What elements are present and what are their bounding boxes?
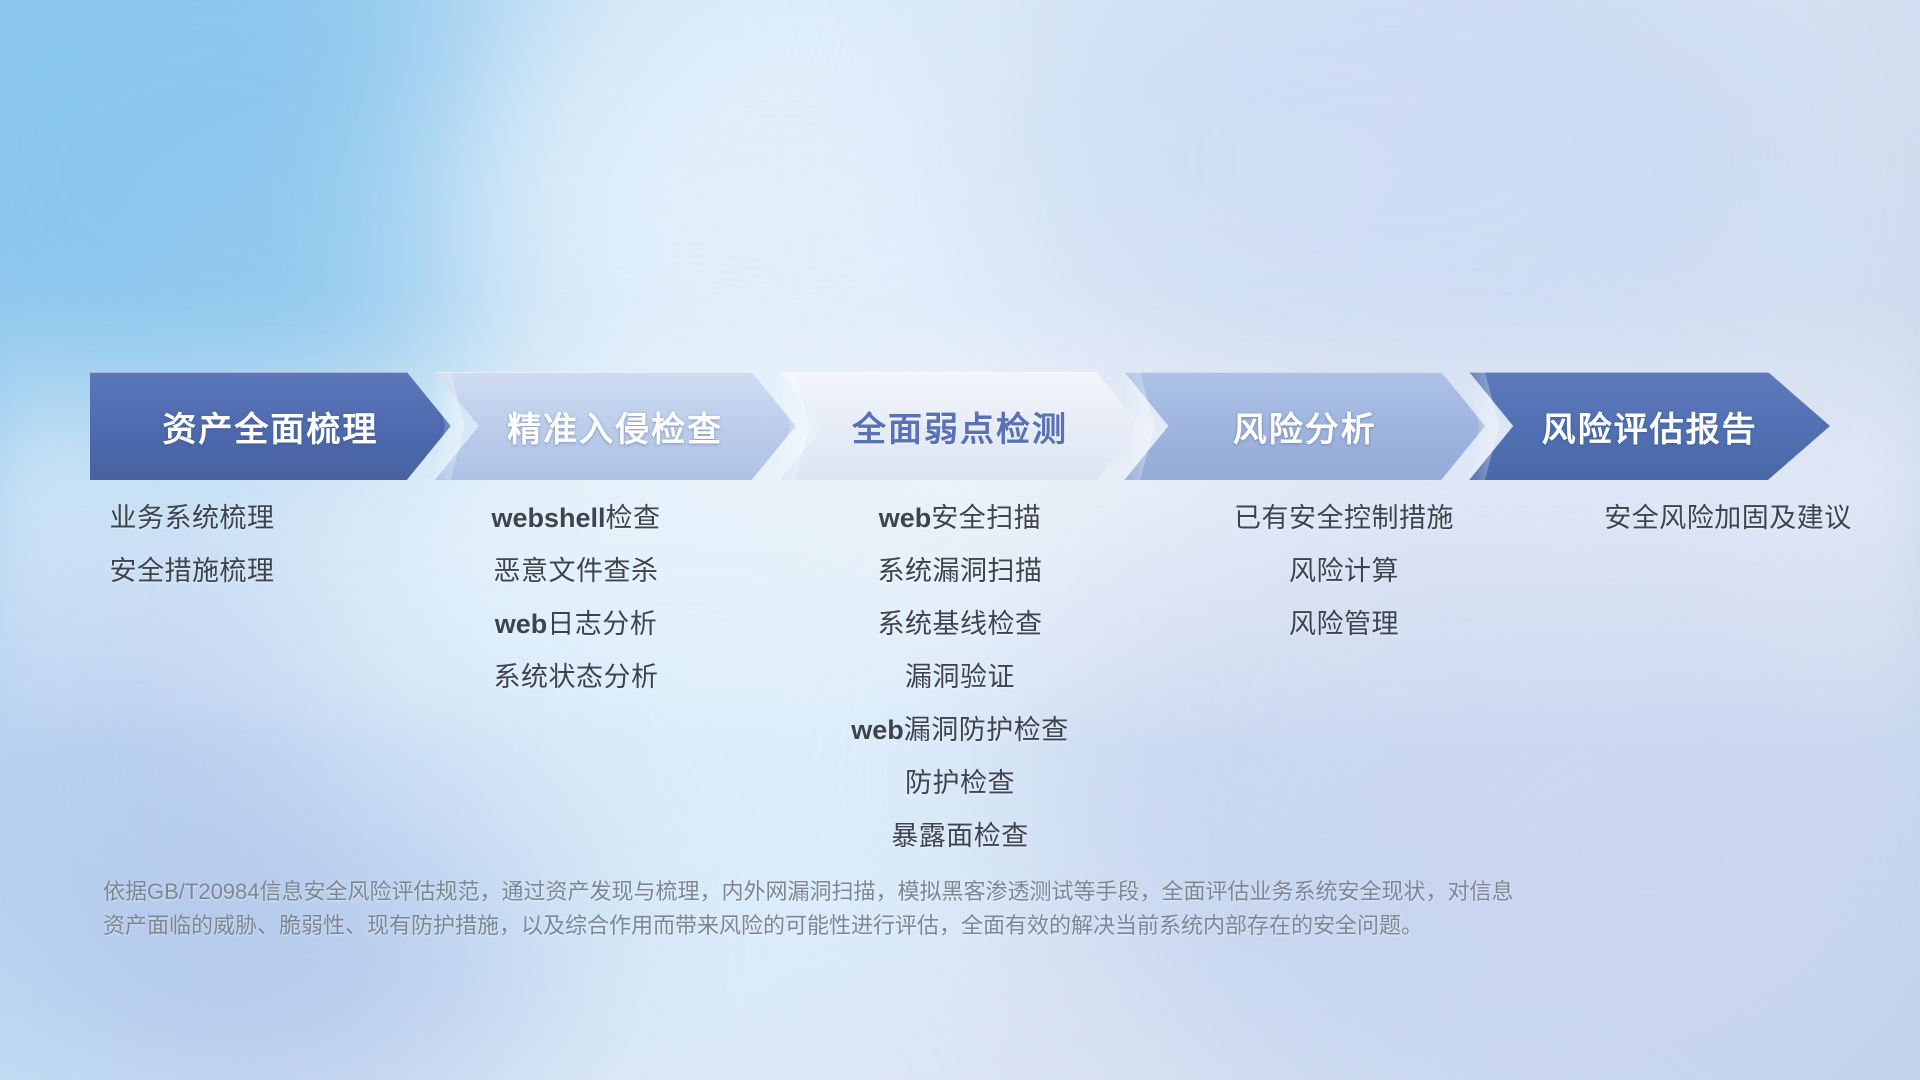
stage-chevron-asset-inventory[interactable]: 资产全面梳理: [90, 372, 451, 480]
footer-description: 依据GB/T20984信息安全风险评估规范，通过资产发现与梳理，内外网漏洞扫描，…: [103, 875, 1743, 943]
bottom-label-latin: webshell: [491, 503, 605, 533]
stage-title: 风险评估报告: [1542, 402, 1758, 451]
bottom-label-cjk: 风险管理: [1289, 609, 1399, 639]
stage-title: 全面弱点检测: [852, 402, 1068, 451]
bottom-label-cjk: 安全风险加固及建议: [1604, 503, 1852, 533]
stage-title: 风险分析: [1233, 402, 1377, 451]
bottom-label: 安全风险加固及建议: [1604, 505, 1852, 532]
bottom-label-cjk: 系统状态分析: [494, 662, 659, 692]
bottom-label-group: web安全扫描系统漏洞扫描系统基线检查漏洞验证web漏洞防护检查防护检查暴露面检…: [768, 505, 1152, 850]
bottom-label: 系统漏洞扫描: [878, 558, 1043, 585]
bottom-label: 风险管理: [1289, 611, 1399, 638]
bottom-label-cjk: 检查: [606, 503, 661, 533]
process-diagram: 理清有效资产识别评估方向异常状态检查缺陷路径发现业务安全脆弱性评估边界安全脆弱性…: [0, 0, 1920, 1080]
stage-title: 资产全面梳理: [162, 402, 378, 451]
bottom-label: web安全扫描: [879, 505, 1042, 532]
bottom-label-latin: web: [879, 503, 932, 533]
bottom-label: 安全措施梳理: [110, 558, 275, 585]
bottom-label-cjk: 安全扫描: [931, 503, 1041, 533]
bottom-label-group: 安全风险加固及建议: [1536, 505, 1920, 532]
bottom-label: 恶意文件查杀: [494, 558, 659, 585]
bottom-label-cjk: 风险计算: [1289, 556, 1399, 586]
bottom-label: 暴露面检查: [891, 823, 1029, 850]
stage-chevron-band: 资产全面梳理精准入侵检查全面弱点检测风险分析风险评估报告: [90, 372, 1830, 480]
bottom-label-group: 业务系统梳理安全措施梳理: [0, 505, 384, 585]
bottom-label-cjk: 日志分析: [547, 609, 657, 639]
bottom-label: 系统基线检查: [878, 611, 1043, 638]
bottom-label-cjk: 防护检查: [905, 768, 1015, 798]
bottom-label: 漏洞验证: [905, 664, 1015, 691]
bottom-label: 系统状态分析: [494, 664, 659, 691]
bottom-label: webshell检查: [491, 505, 660, 532]
footer-line-2: 资产面临的威胁、脆弱性、现有防护措施，以及综合作用而带来风险的可能性进行评估，全…: [103, 909, 1743, 943]
bottom-label-cjk: 系统基线检查: [878, 609, 1043, 639]
bottom-label-latin: web: [495, 609, 548, 639]
bottom-label-latin: web: [851, 715, 904, 745]
bottom-label-cjk: 已有安全控制措施: [1234, 503, 1454, 533]
bottom-label-group: webshell检查恶意文件查杀web日志分析系统状态分析: [384, 505, 768, 691]
bottom-label: web漏洞防护检查: [851, 717, 1069, 744]
bottom-label-cjk: 暴露面检查: [891, 821, 1029, 851]
bottom-label: 业务系统梳理: [110, 505, 275, 532]
bottom-column-asset-inventory: 业务系统梳理安全措施梳理: [0, 505, 384, 1080]
bottom-label: 风险计算: [1289, 558, 1399, 585]
bottom-label: 防护检查: [905, 770, 1015, 797]
bottom-label-cjk: 业务系统梳理: [110, 503, 275, 533]
bottom-label-cjk: 系统漏洞扫描: [878, 556, 1043, 586]
footer-line-1: 依据GB/T20984信息安全风险评估规范，通过资产发现与梳理，内外网漏洞扫描，…: [103, 875, 1743, 909]
stage-chevron-weakness-detection[interactable]: 全面弱点检测: [780, 372, 1141, 480]
bottom-label-group: 已有安全控制措施风险计算风险管理: [1152, 505, 1536, 638]
bottom-column-weakness-detection: web安全扫描系统漏洞扫描系统基线检查漏洞验证web漏洞防护检查防护检查暴露面检…: [768, 505, 1152, 1080]
bottom-label: 已有安全控制措施: [1234, 505, 1454, 532]
stage-title: 精准入侵检查: [507, 402, 723, 451]
bottom-label-cjk: 安全措施梳理: [110, 556, 275, 586]
stage-chevron-risk-analysis[interactable]: 风险分析: [1124, 372, 1485, 480]
bottom-column-risk-analysis: 已有安全控制措施风险计算风险管理: [1152, 505, 1536, 1080]
top-labels-row: 理清有效资产识别评估方向异常状态检查缺陷路径发现业务安全脆弱性评估边界安全脆弱性…: [0, 210, 1920, 360]
bottom-column-assessment-report: 安全风险加固及建议: [1536, 505, 1920, 1080]
bottom-label-cjk: 漏洞防护检查: [904, 715, 1069, 745]
stage-chevron-intrusion-check[interactable]: 精准入侵检查: [435, 372, 796, 480]
stage-chevron-assessment-report[interactable]: 风险评估报告: [1469, 372, 1830, 480]
bottom-label-cjk: 恶意文件查杀: [494, 556, 659, 586]
bottom-label: web日志分析: [495, 611, 658, 638]
bottom-label-cjk: 漏洞验证: [905, 662, 1015, 692]
bottom-column-intrusion-check: webshell检查恶意文件查杀web日志分析系统状态分析: [384, 505, 768, 1080]
